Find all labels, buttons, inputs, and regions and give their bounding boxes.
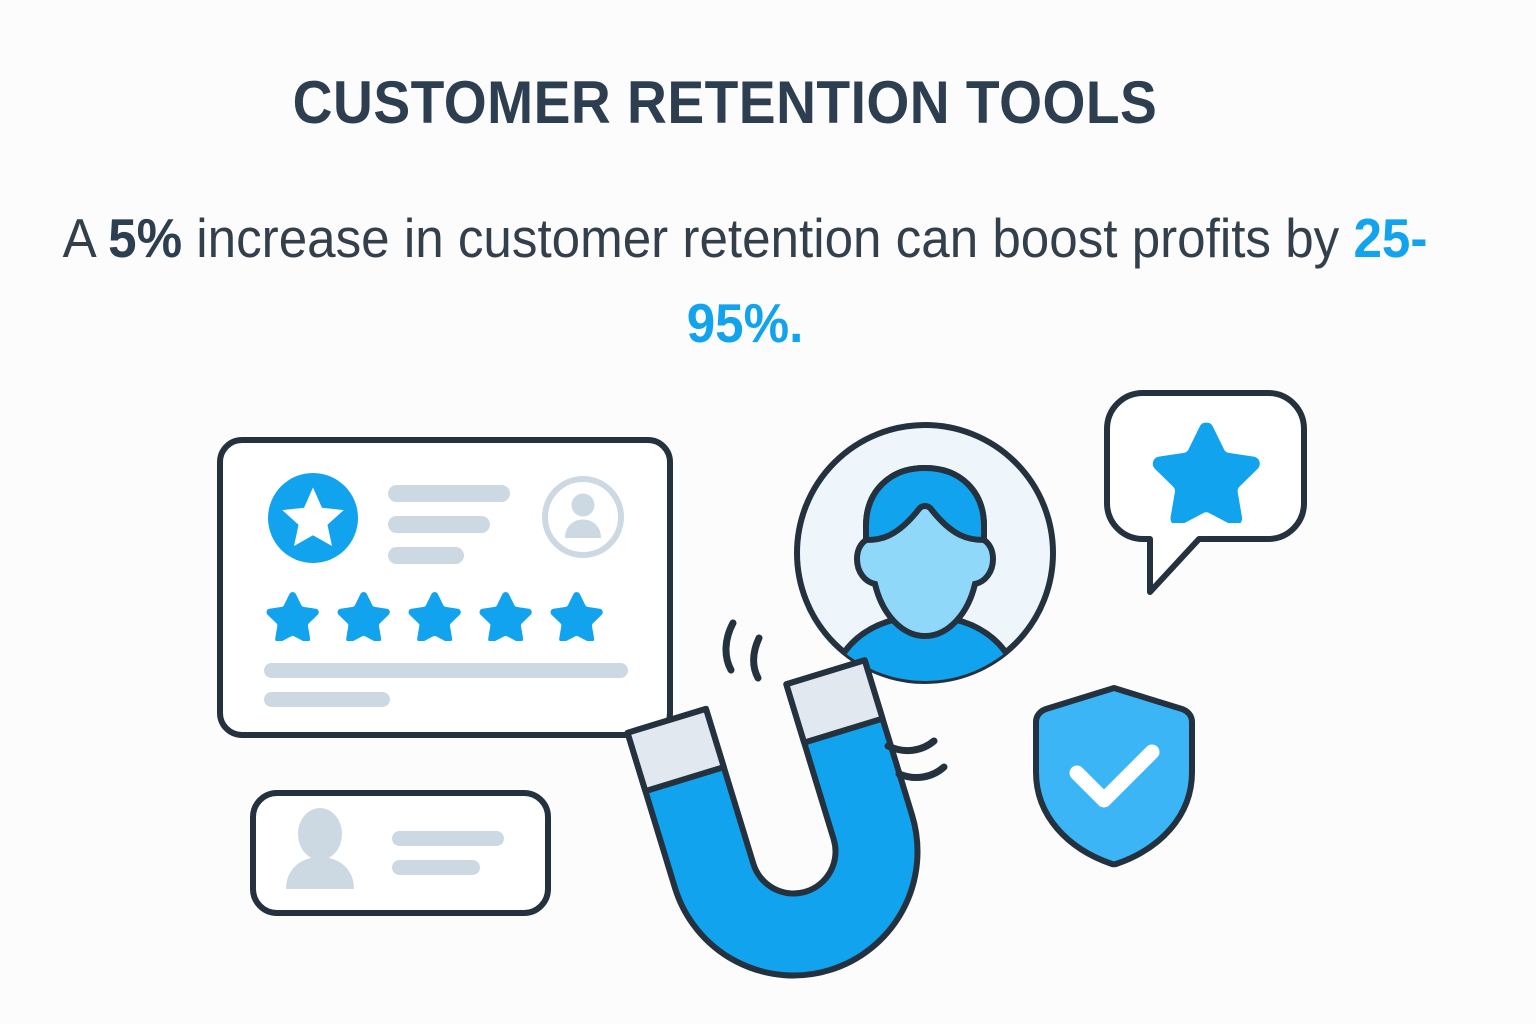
page-title: CUSTOMER RETENTION TOOLS	[58, 68, 1392, 137]
infographic-canvas: CUSTOMER RETENTION TOOLS A 5% increase i…	[0, 0, 1536, 1024]
review-card-line-1	[388, 485, 510, 502]
contact-card-frame	[253, 793, 548, 913]
trust-shield[interactable]	[1036, 688, 1192, 864]
subtitle-segment-2: increase in customer retention can boost…	[182, 207, 1353, 269]
review-speech-bubble[interactable]	[1107, 393, 1304, 592]
contact-card-line-1	[392, 831, 504, 846]
review-card-body-line-1	[264, 663, 628, 678]
contact-card-line-2	[392, 860, 480, 875]
shield-check-icon	[1036, 688, 1192, 864]
review-card[interactable]	[220, 440, 670, 735]
horseshoe-magnet-icon	[628, 660, 949, 1006]
star-badge-icon	[268, 473, 358, 563]
review-card-line-3	[388, 547, 464, 564]
contact-card[interactable]	[253, 793, 548, 913]
subtitle-segment-1: A	[63, 207, 109, 269]
review-card-line-2	[388, 516, 490, 533]
subtitle-highlight-percent: 5%	[108, 207, 182, 269]
illustration-group	[0, 0, 1536, 1024]
statistic-subtitle: A 5% increase in customer retention can …	[52, 196, 1438, 367]
review-card-body-line-2	[264, 692, 390, 707]
